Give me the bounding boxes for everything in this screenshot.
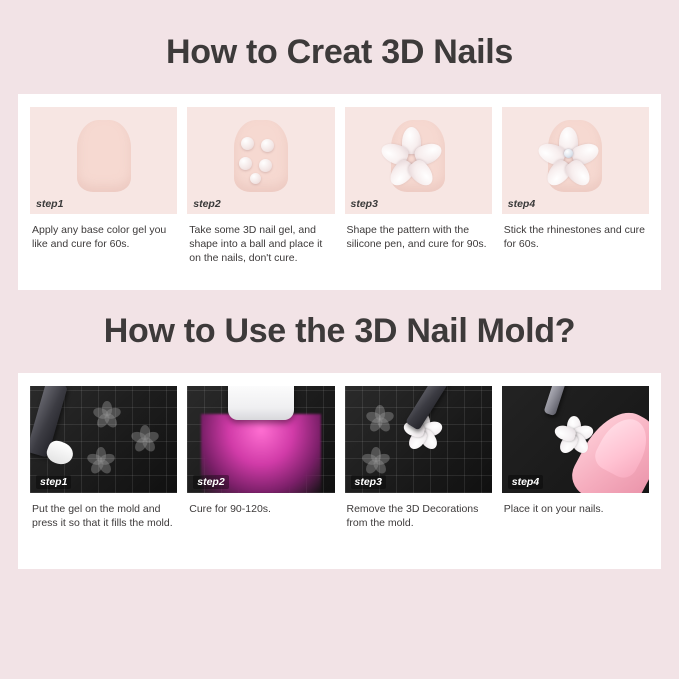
step-card: step4 Place it on your nails. [502,386,649,555]
step-label: step3 [351,475,386,489]
nail-shape-icon [77,120,131,192]
step-label: step3 [351,198,378,210]
step-card: step1 Apply any base color gel you like … [30,107,177,276]
3d-decoration-icon [554,416,594,456]
step-image-shaped-flower: step3 [345,107,492,214]
mold-flower-icon [132,426,158,452]
step-label: step1 [36,198,63,210]
section-title-mold: How to Use the 3D Nail Mold? [0,290,679,351]
mold-flower-icon [94,402,120,428]
step-image-fill-mold: step1 [30,386,177,493]
mold-flower-icon [88,448,114,474]
step-card: step4 Stick the rhinestones and cure for… [502,107,649,276]
step-caption: Cure for 90-120s. [187,493,334,516]
step-caption: Apply any base color gel you like and cu… [30,214,177,251]
step-caption: Place it on your nails. [502,493,649,516]
step-caption: Shape the pattern with the silicone pen,… [345,214,492,251]
step-caption: Take some 3D nail gel, and shape into a … [187,214,334,265]
step-card: step2 Take some 3D nail gel, and shape i… [187,107,334,276]
step-label: step2 [193,475,228,489]
step-card: step1 Put the gel on the mold and press … [30,386,177,555]
mold-flower-icon [367,406,393,432]
step-caption: Remove the 3D Decorations from the mold. [345,493,492,530]
rhinestone-icon [564,149,573,158]
step-image-apply-to-nail: step4 [502,386,649,493]
step-caption: Put the gel on the mold and press it so … [30,493,177,530]
uv-lamp-icon [228,386,294,420]
step-label: step2 [193,198,220,210]
step-image-uv-cure: step2 [187,386,334,493]
step-image-rhinestone-flower: step4 [502,107,649,214]
step-image-gel-balls: step2 [187,107,334,214]
step-caption: Stick the rhinestones and cure for 60s. [502,214,649,251]
steps-panel-create: step1 Apply any base color gel you like … [18,94,661,290]
step-label: step4 [508,198,535,210]
step-label: step4 [508,475,543,489]
product-infographic: How to Creat 3D Nails step1 Apply any ba… [0,0,679,679]
step-card: step3 Remove the 3D Decorations from the… [345,386,492,555]
section-title-create: How to Creat 3D Nails [0,0,679,72]
step-label: step1 [36,475,71,489]
step-image-base-gel: step1 [30,107,177,214]
step-image-remove-decoration: step3 [345,386,492,493]
step-card: step3 Shape the pattern with the silicon… [345,107,492,276]
step-card: step2 Cure for 90-120s. [187,386,334,555]
steps-panel-mold: step1 Put the gel on the mold and press … [18,373,661,569]
mold-flower-icon [363,448,389,474]
nail-shape-icon [234,120,288,192]
